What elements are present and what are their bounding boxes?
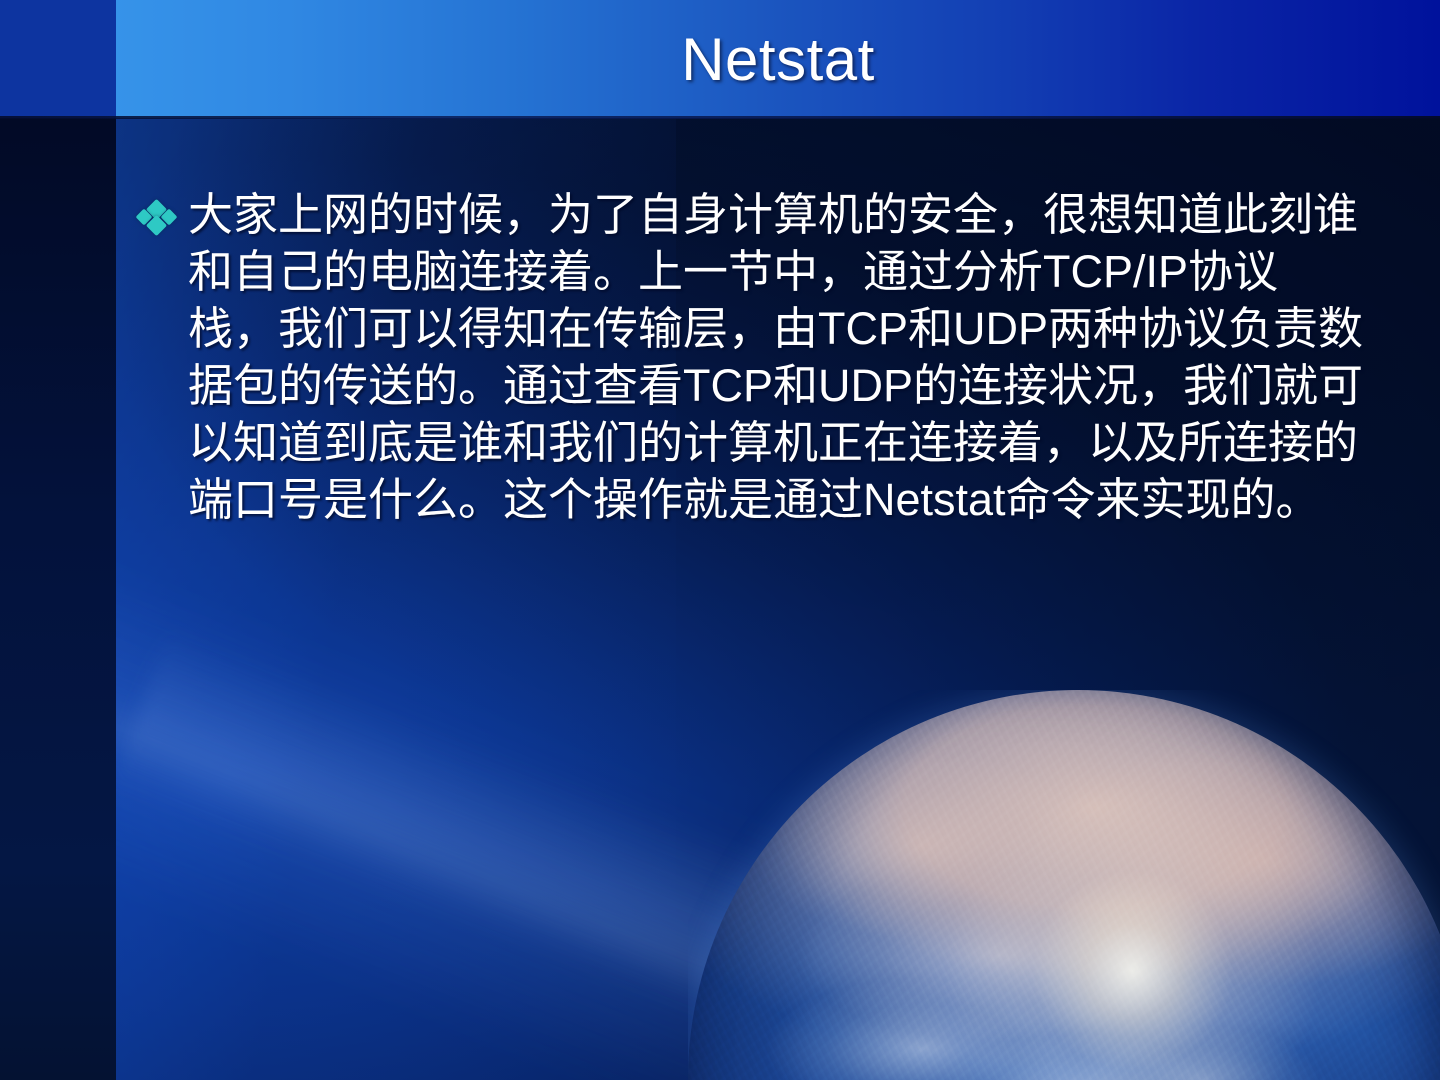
left-sidebar-rail — [0, 118, 116, 1080]
slide-canvas: Netstat 大家上网的时候，为了自身计算机的安全，很想知道此刻谁和自己的电脑… — [0, 0, 1440, 1080]
page-title: Netstat — [116, 0, 1440, 118]
slide-header: Netstat — [0, 0, 1440, 118]
header-bottom-seam — [0, 116, 1440, 119]
bullet-list-item: 大家上网的时候，为了自身计算机的安全，很想知道此刻谁和自己的电脑连接着。上一节中… — [138, 186, 1368, 528]
diamond-cluster-bullet-icon — [138, 202, 178, 240]
body-paragraph: 大家上网的时候，为了自身计算机的安全，很想知道此刻谁和自己的电脑连接着。上一节中… — [138, 186, 1368, 528]
header-left-accent-block — [0, 0, 116, 118]
slide-body: 大家上网的时候，为了自身计算机的安全，很想知道此刻谁和自己的电脑连接着。上一节中… — [138, 186, 1368, 528]
